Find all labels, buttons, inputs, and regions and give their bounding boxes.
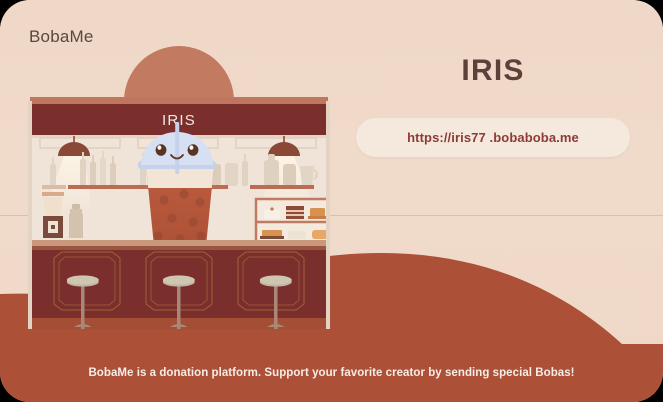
creator-url-text: https://iris77 .bobaboba.me xyxy=(407,130,579,145)
creator-panel: IRIS https://iris77 .bobaboba.me xyxy=(343,40,643,157)
creator-name: IRIS xyxy=(343,54,643,88)
pastry-display-case xyxy=(256,199,328,244)
arch-dome xyxy=(124,46,234,101)
shaker xyxy=(69,204,83,238)
boba-shop-illustration: IRIS xyxy=(28,44,330,329)
footer-message: BobaMe is a donation platform. Support y… xyxy=(88,367,574,379)
profile-card: BobaMe xyxy=(0,0,663,402)
footer-banner: BobaMe is a donation platform. Support y… xyxy=(0,344,663,402)
creator-url-pill[interactable]: https://iris77 .bobaboba.me xyxy=(356,118,630,157)
